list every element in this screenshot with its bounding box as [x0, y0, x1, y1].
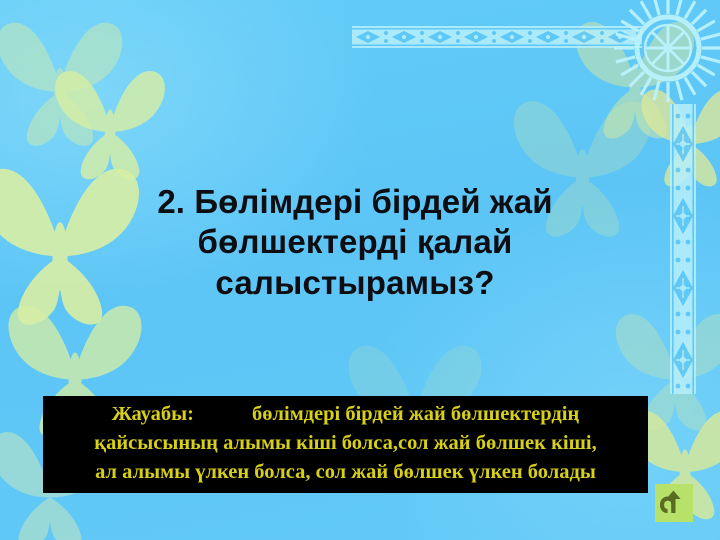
answer-line-2: қайсысының алымы кіші болса,сол жай бөлш…	[43, 429, 648, 458]
title-line-2: бөлшектерді қалай	[60, 222, 650, 262]
shanyrak-sun-emblem-icon	[612, 0, 720, 104]
answer-line-1: Жауабы:бөлімдері бірдей жай бөлшектердің	[43, 400, 648, 429]
slide-title: 2. Бөлімдері бірдей жай бөлшектерді қала…	[60, 182, 650, 303]
answer-label: Жауабы:	[112, 403, 194, 425]
kazakh-ornament-horizontal-icon	[352, 24, 642, 50]
kazakh-ornament-vertical-icon	[668, 104, 698, 394]
title-line-1: 2. Бөлімдері бірдей жай	[60, 182, 650, 222]
u-turn-arrow-icon	[660, 489, 688, 517]
return-button[interactable]	[655, 484, 693, 522]
title-line-3: салыстырамыз?	[60, 263, 650, 303]
answer-text-1: бөлімдері бірдей жай бөлшектердің	[252, 403, 579, 425]
slide-canvas: 2. Бөлімдері бірдей жай бөлшектерді қала…	[0, 0, 720, 540]
answer-line-3: ал алымы үлкен болса, сол жай бөлшек үлк…	[43, 458, 648, 487]
answer-box: Жауабы:бөлімдері бірдей жай бөлшектердің…	[43, 396, 648, 493]
